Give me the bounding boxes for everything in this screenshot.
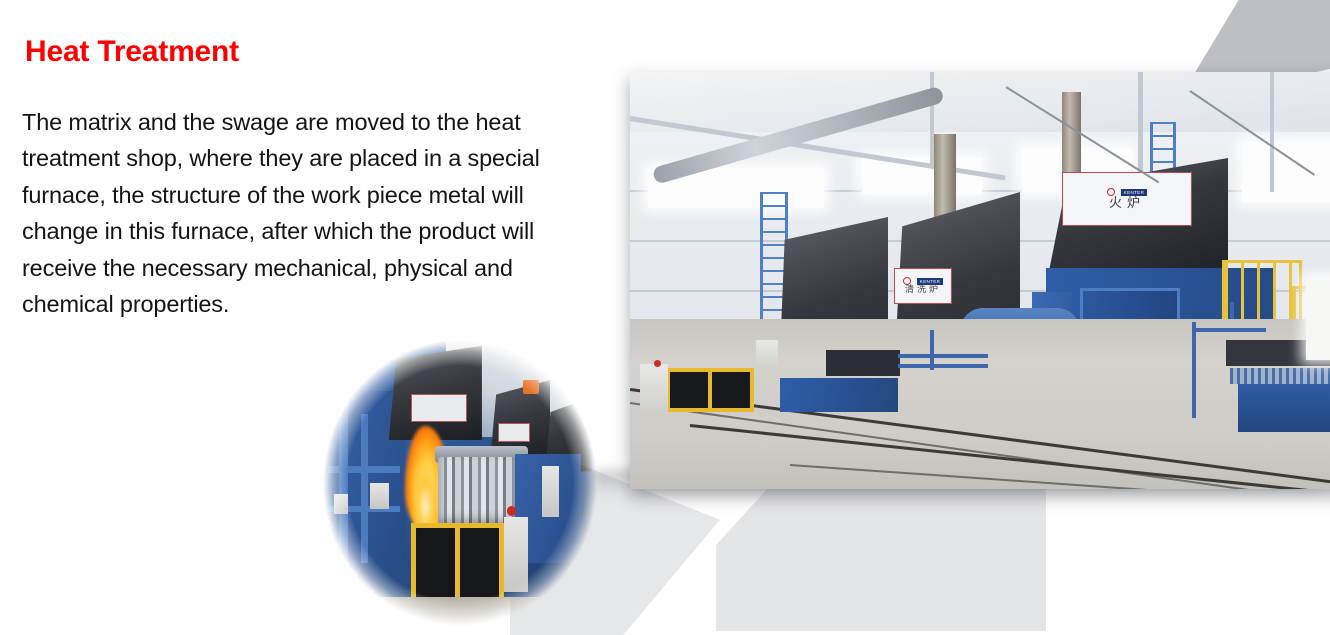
pipe	[328, 466, 399, 473]
page-title: Heat Treatment	[25, 33, 239, 71]
conveyor-frame	[1238, 384, 1330, 432]
air-unit	[756, 340, 778, 370]
inset-photo-scene	[323, 340, 597, 626]
inset-furnace-sign-second	[498, 423, 530, 442]
machine-dark-panel	[826, 350, 900, 376]
brand-badge: KENTER	[1121, 189, 1148, 196]
body-paragraph: The matrix and the swage are moved to th…	[22, 104, 567, 323]
pipe	[898, 364, 988, 368]
sign-chinese-text: 清洗炉	[905, 286, 941, 295]
pipe	[339, 403, 347, 563]
control-box	[640, 364, 668, 412]
support-post	[1192, 322, 1196, 418]
main-workshop-photo: KENTER 清洗炉 KENTER 火炉	[630, 72, 1330, 489]
ceiling-column	[1138, 72, 1143, 180]
circle-logo-icon	[903, 277, 911, 285]
support-beam	[1196, 328, 1266, 332]
furnace-sign-middle: KENTER 清洗炉	[894, 268, 952, 304]
brand-badge: KENTER	[917, 278, 944, 285]
side-control-cabinet	[504, 517, 529, 591]
pipe	[361, 414, 368, 563]
ceiling-column	[1270, 72, 1274, 192]
cabinet-panel	[460, 528, 499, 598]
orange-equipment	[523, 380, 539, 394]
indicator-lamp	[654, 360, 661, 367]
inset-floor	[323, 597, 597, 626]
cabinet-panel	[670, 372, 708, 408]
inset-furnace-hood-main	[389, 346, 482, 440]
emergency-stop-icon	[507, 506, 517, 516]
right-control-panel	[542, 466, 558, 517]
roller-conveyor	[1230, 368, 1330, 384]
far-doorway	[1306, 278, 1330, 360]
furnace-sign-right: KENTER 火炉	[1062, 172, 1192, 226]
cabinet-panel	[712, 372, 750, 408]
yellow-cabinet	[666, 368, 754, 412]
sign-logo-row: KENTER	[903, 277, 944, 285]
pipe	[898, 354, 988, 358]
circle-logo-icon	[1107, 188, 1115, 196]
sign-chinese-text: 火炉	[1109, 197, 1145, 210]
main-photo-scene: KENTER 清洗炉 KENTER 火炉	[630, 72, 1330, 489]
inset-furnace-sign	[411, 394, 468, 422]
inset-yellow-cabinet	[411, 523, 504, 603]
sign-logo-row: KENTER	[1107, 188, 1148, 196]
control-panel	[334, 494, 348, 514]
cabinet-panel	[416, 528, 455, 598]
furnace-flame-inset-photo	[323, 340, 597, 626]
slide-root: Heat Treatment The matrix and the swage …	[0, 0, 1330, 617]
control-panel	[370, 483, 389, 509]
window	[1242, 142, 1330, 202]
machine-base	[780, 378, 898, 412]
pipe	[930, 330, 934, 370]
